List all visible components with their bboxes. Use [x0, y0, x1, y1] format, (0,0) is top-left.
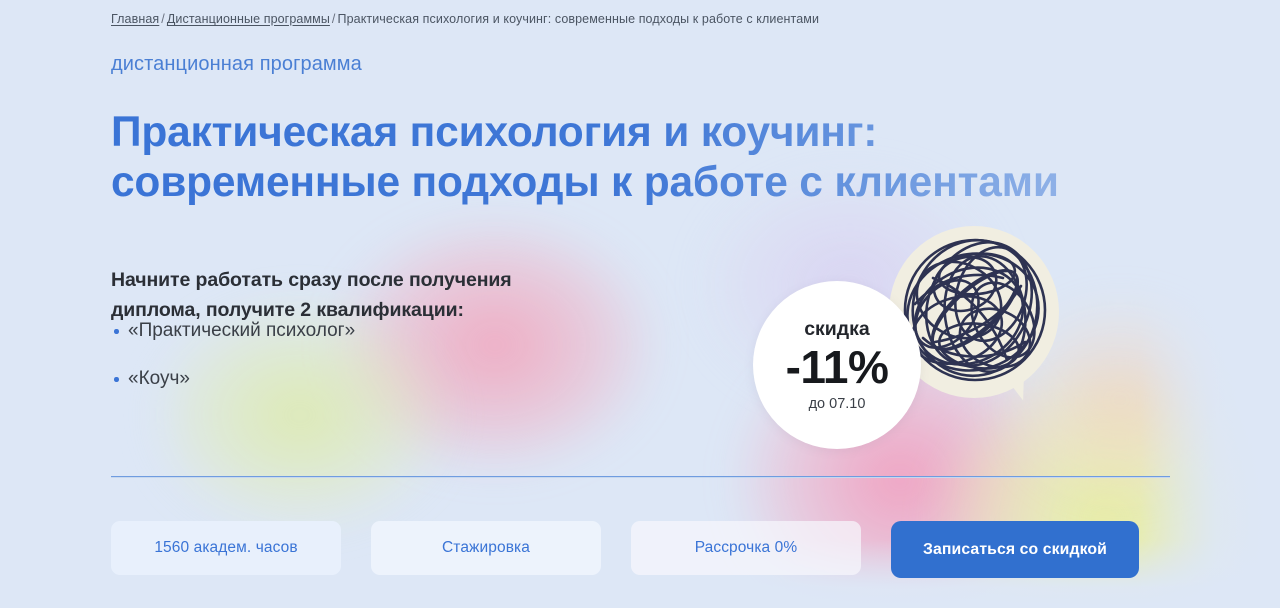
program-format-label: дистанционная программа [111, 53, 362, 76]
qualification-label: «Коуч» [128, 368, 190, 389]
discount-amount: -11% [786, 342, 889, 392]
brain-scribble-icon [899, 234, 1051, 386]
qualification-label: «Практический психолог» [128, 320, 355, 341]
list-item: «Коуч» [111, 366, 355, 392]
bullet-dot-icon [114, 377, 119, 382]
blob-fade-right [1140, 0, 1280, 608]
hero-lead-text: Начните работать сразу после получения д… [111, 265, 591, 325]
section-divider [111, 476, 1170, 478]
breadcrumb: Главная/Дистанционные программы/Практиче… [111, 12, 819, 26]
qualifications-list: «Практический психолог» «Коуч» [111, 318, 355, 414]
page-title: Практическая психология и коучинг: совре… [111, 108, 1121, 208]
discount-label: скидка [804, 318, 870, 340]
program-hero-banner: Главная/Дистанционные программы/Практиче… [0, 0, 1280, 608]
breadcrumb-separator-1: / [159, 12, 167, 26]
chip-installment[interactable]: Рассрочка 0% [631, 521, 861, 575]
breadcrumb-link-home[interactable]: Главная [111, 12, 159, 26]
breadcrumb-link-section[interactable]: Дистанционные программы [167, 12, 330, 26]
breadcrumb-separator-2: / [330, 12, 338, 26]
feature-chip-group: 1560 академ. часов Стажировка Рассрочка … [111, 521, 861, 575]
discount-deadline: до 07.10 [809, 395, 866, 413]
breadcrumb-current: Практическая психология и коучинг: совре… [338, 12, 820, 26]
bullet-dot-icon [114, 329, 119, 334]
blob-pink-center [330, 215, 660, 475]
list-item: «Практический психолог» [111, 318, 355, 344]
chip-academic-hours[interactable]: 1560 академ. часов [111, 521, 341, 575]
enroll-with-discount-button[interactable]: Записаться со скидкой [891, 521, 1139, 578]
chip-internship[interactable]: Стажировка [371, 521, 601, 575]
discount-badge: скидка -11% до 07.10 [753, 281, 921, 449]
discount-promo: скидка -11% до 07.10 [745, 226, 1075, 441]
